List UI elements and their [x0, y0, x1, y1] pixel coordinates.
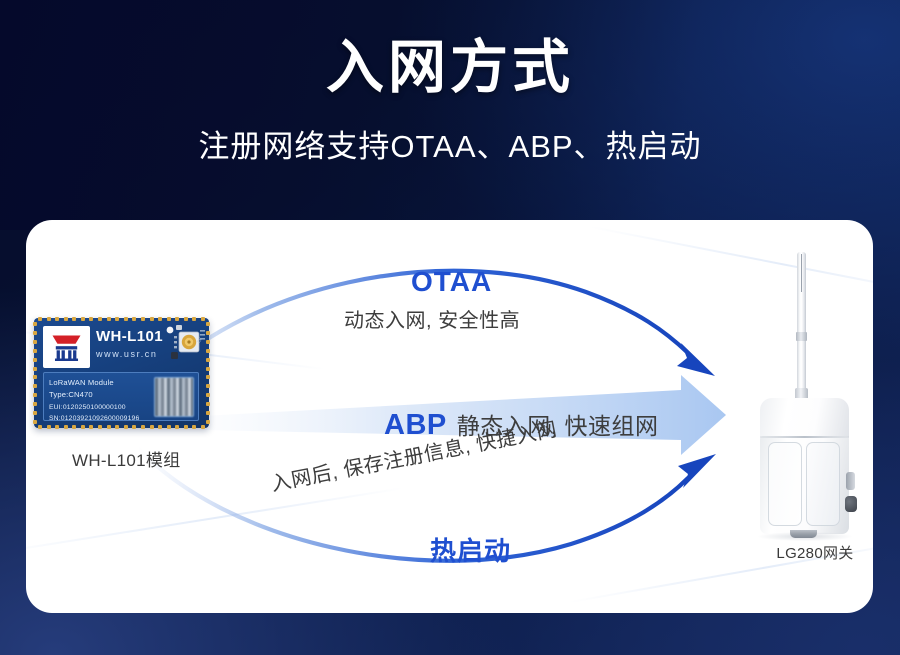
gateway-antenna-joint — [796, 332, 807, 341]
gateway-front-panel-left — [768, 442, 802, 526]
gateway-top-shell — [760, 398, 849, 440]
gateway-body-seam — [760, 436, 849, 438]
gateway-antenna-seam — [801, 254, 802, 292]
gateway-illustration — [750, 240, 860, 530]
module-device: WH-L101 www.usr.cn CE — [34, 318, 234, 428]
page-subtitle: 注册网络支持OTAA、ABP、热启动 — [0, 121, 900, 166]
warm-start-title: 热启动 — [430, 531, 511, 568]
otaa-title: OTAA — [411, 266, 492, 298]
header: 入网方式 注册网络支持OTAA、ABP、热启动 — [0, 0, 900, 166]
content-card: WH-L101 www.usr.cn CE — [26, 220, 873, 613]
otaa-description: 动态入网, 安全性高 — [344, 304, 520, 333]
qr-code — [154, 377, 194, 417]
pcb-pads-bottom — [38, 425, 205, 429]
gateway-front-panel-right — [806, 442, 840, 526]
module-caption: WH-L101模组 — [72, 446, 181, 471]
gateway-side-port — [846, 472, 855, 490]
page-title: 入网方式 — [0, 38, 900, 99]
module-model-name: WH-L101 — [96, 329, 163, 346]
pcb-components: CE — [164, 322, 208, 368]
module-info-label: LoRaWAN Module Type:CN470 EUI:0120250100… — [43, 372, 199, 421]
pcb-pads-left — [33, 322, 37, 424]
pcb-board: WH-L101 www.usr.cn CE — [34, 318, 209, 428]
pcb-pads-top — [38, 317, 205, 321]
usr-logo-mark — [50, 333, 83, 361]
gateway-side-connector — [845, 496, 857, 512]
gateway-caption: LG280网关 — [750, 542, 873, 563]
module-brand-block: WH-L101 www.usr.cn — [96, 329, 163, 359]
svg-text:CE: CE — [196, 336, 203, 344]
gateway-drop-shadow — [758, 532, 852, 541]
module-website-url: www.usr.cn — [96, 349, 163, 359]
usr-logo — [43, 326, 90, 368]
gateway-device: LG280网关 — [736, 240, 873, 530]
